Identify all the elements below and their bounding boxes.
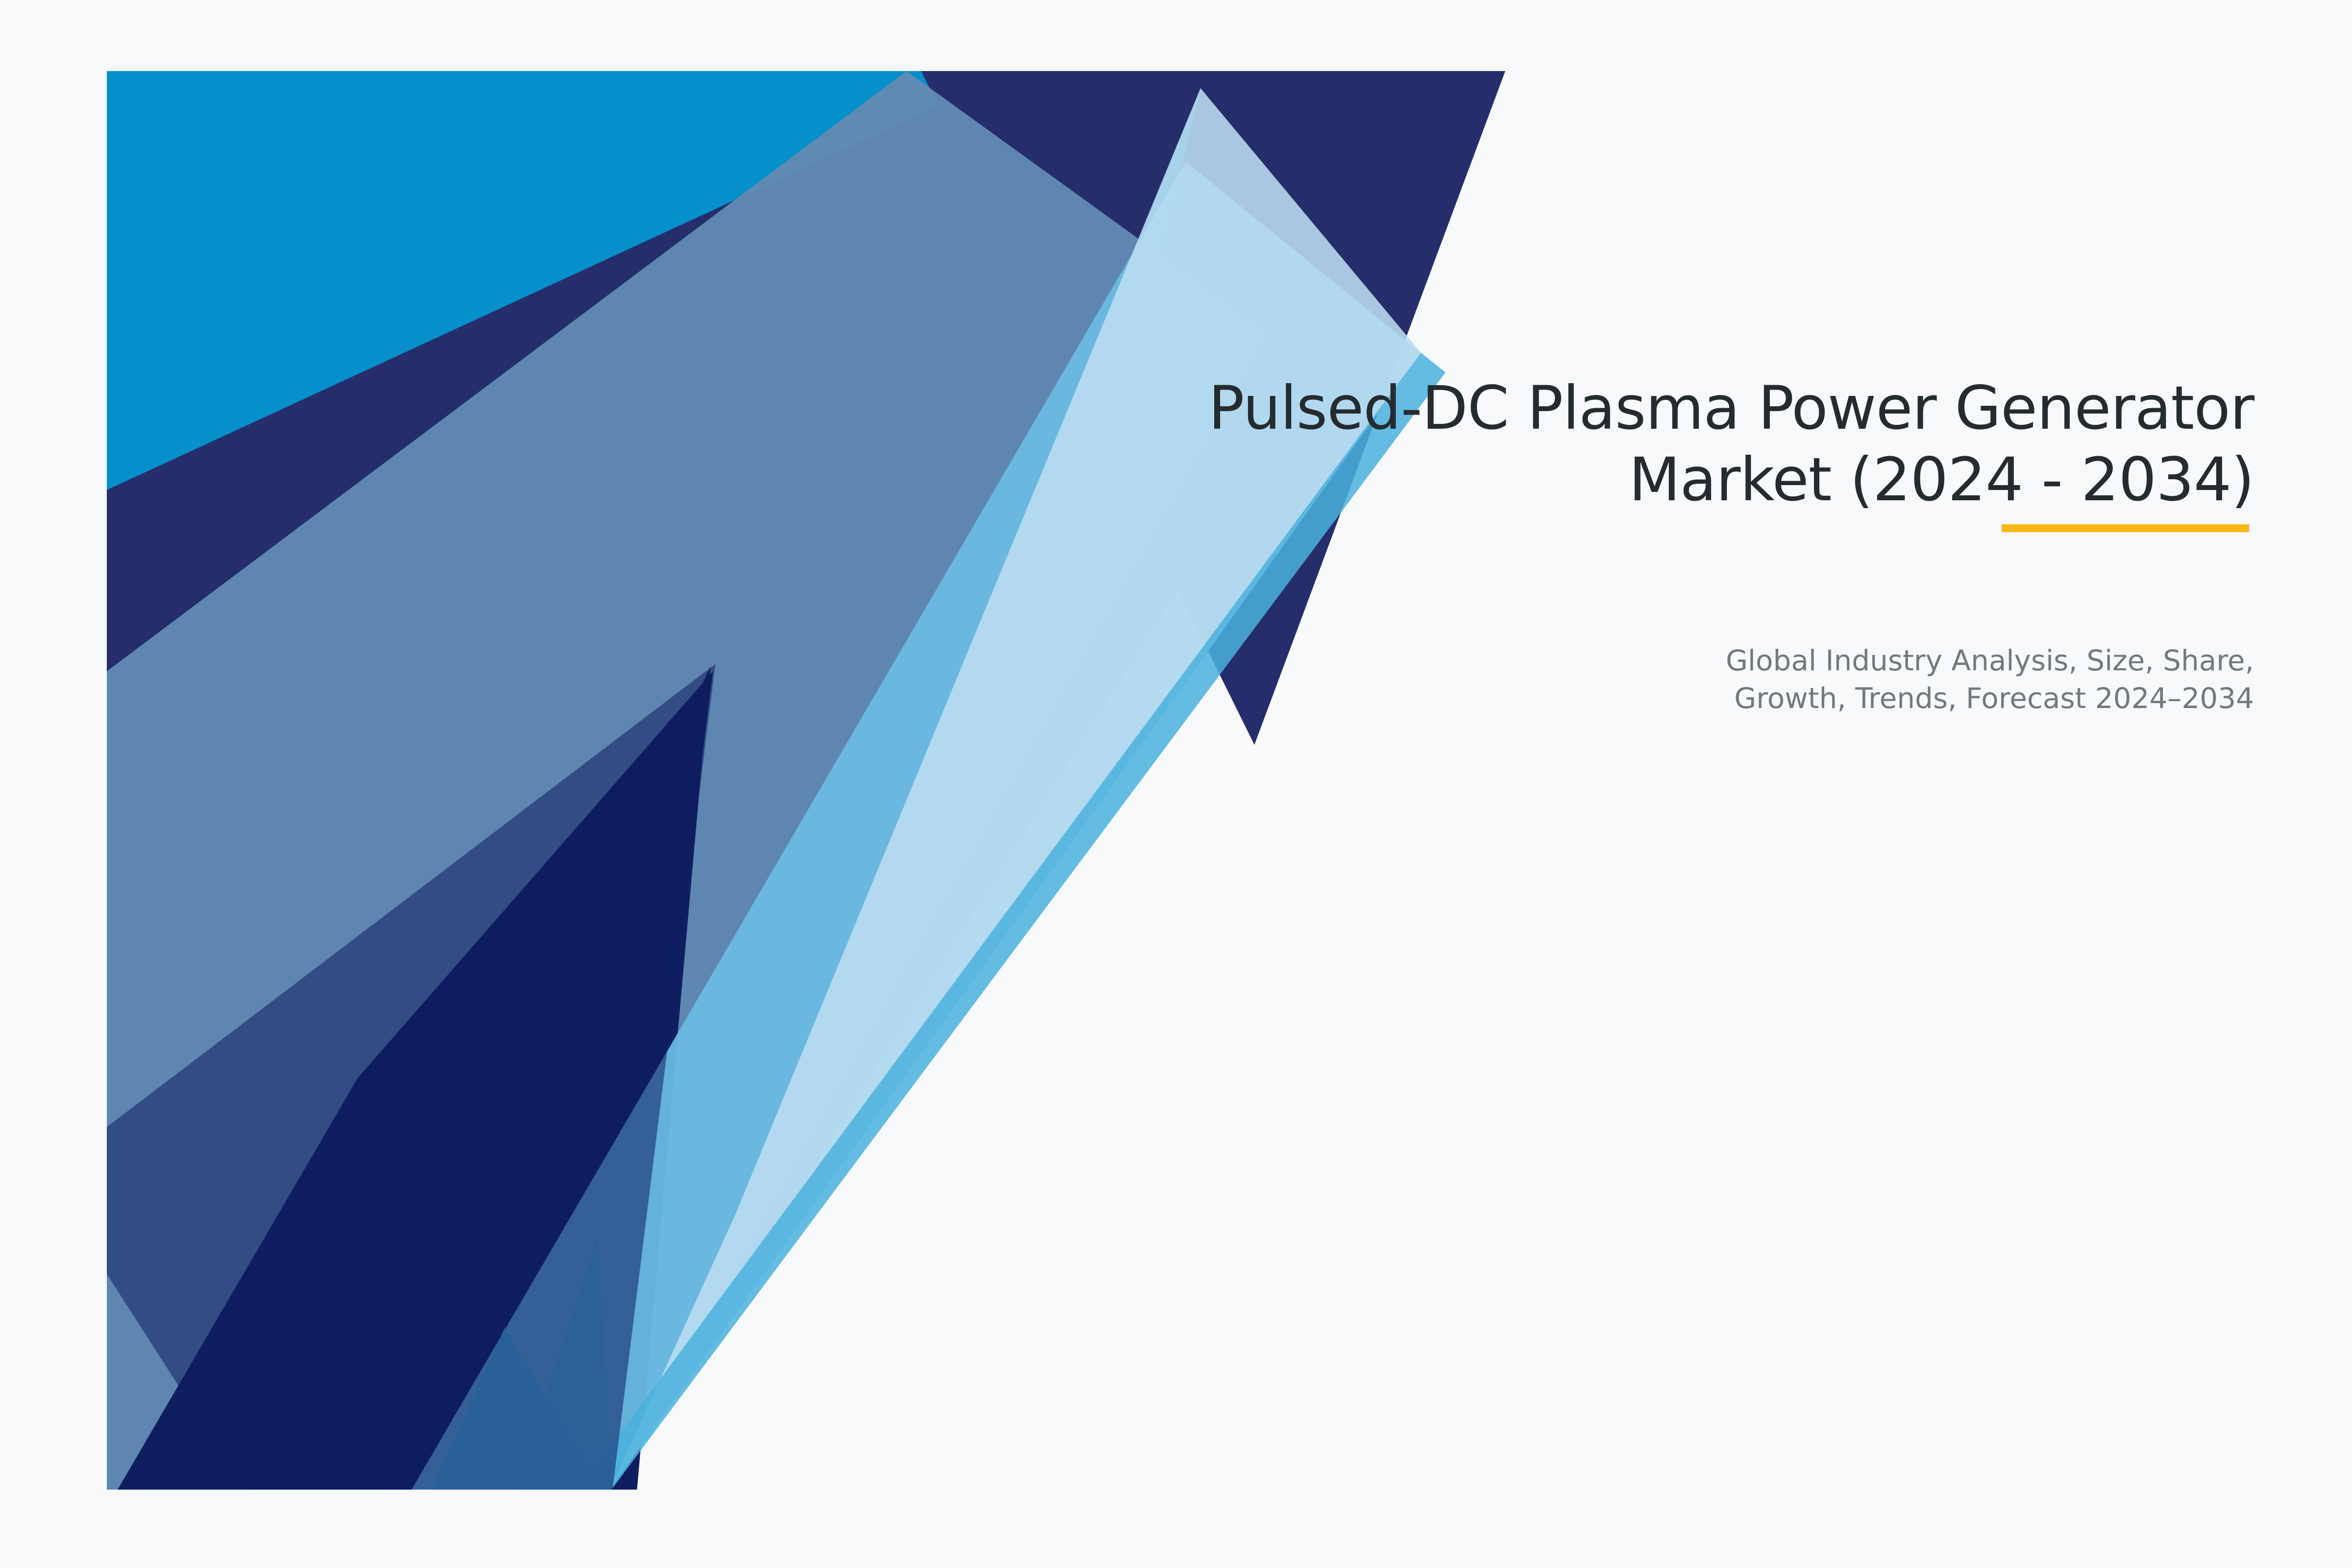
abstract-geometric-artwork xyxy=(0,0,2352,1568)
shape-light-blue-ribbon xyxy=(412,162,1421,1490)
page-title: Pulsed-DC Plasma Power Generator Market … xyxy=(833,372,2254,516)
subtitle-block: Global Industry Analysis, Size, Share, G… xyxy=(1421,642,2254,717)
shape-sky-blue-v-left xyxy=(431,1328,603,1490)
shape-navy-wedge-left xyxy=(107,71,1505,1490)
shape-deep-navy-bottom-left xyxy=(118,671,713,1490)
cover-page: Pulsed-DC Plasma Power Generator Market … xyxy=(0,0,2352,1568)
shape-deep-navy-spike xyxy=(338,666,710,1490)
shape-pale-blue-overlay xyxy=(610,88,1421,1490)
title-accent-underline xyxy=(2002,524,2249,532)
shape-sky-blue-v-right xyxy=(514,1235,612,1490)
shape-bright-blue-base xyxy=(107,71,1505,1490)
shape-deep-navy-overlap xyxy=(107,664,715,1490)
shape-navy-diagonal-band xyxy=(107,71,1505,1490)
shape-sky-blue-strip xyxy=(578,353,1445,1490)
title-block: Pulsed-DC Plasma Power Generator Market … xyxy=(833,372,2254,516)
page-subtitle: Global Industry Analysis, Size, Share, G… xyxy=(1421,642,2254,717)
shape-steel-blue-overlay xyxy=(107,71,1269,1490)
